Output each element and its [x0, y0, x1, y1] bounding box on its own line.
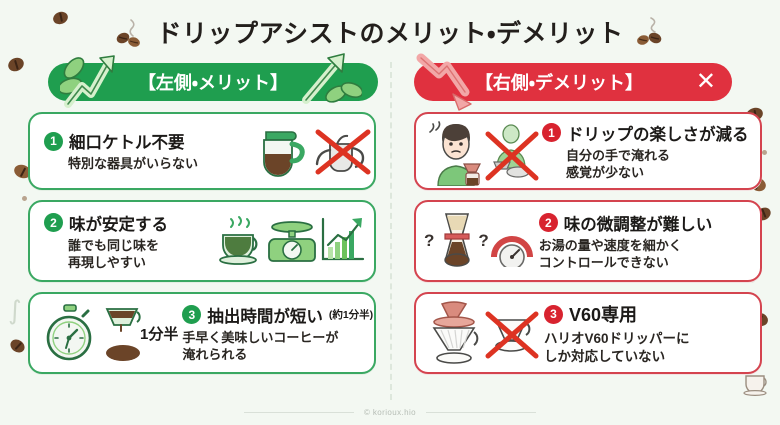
footer-rule-right — [426, 412, 536, 413]
merit-card[interactable]: 1分半 3 抽出時間が短い (約1分半) 手早く美味しいコーヒーが 淹れられる — [28, 292, 376, 374]
footer-credit: © korioux.hio — [364, 408, 416, 417]
page-title: ドリップアシストのメリット・デメリット — [0, 12, 780, 52]
page-title-text: ドリップアシストのメリット・デメリット — [156, 14, 623, 50]
coffee-bean-decoration — [6, 55, 26, 74]
up-arrow-leaf-icon — [300, 50, 362, 108]
demerit-subtext: お湯の量や速度を細かく コントロールできない — [539, 238, 745, 271]
demerit-card[interactable]: ? ? 2 味の微調整が難しい お湯の量や速度を細かく コントロールできない — [414, 200, 762, 282]
close-icon: ✕ — [696, 70, 716, 94]
v60-dripper-icon — [424, 298, 486, 368]
demerits-column: 1 ドリップの楽しさが減る 自分の手で淹れる 感覚が少ない ? ? — [414, 112, 762, 384]
merit-headline: 1 細口ケトル不要 — [44, 129, 250, 153]
item-number-badge: 2 — [44, 213, 63, 232]
gauge-icon — [489, 227, 535, 267]
coffee-bean-decoration — [8, 337, 27, 355]
item-number-badge: 3 — [544, 305, 563, 324]
demerit-card[interactable]: 1 ドリップの楽しさが減る 自分の手で淹れる 感覚が少ない — [414, 112, 762, 190]
merits-column: 1 細口ケトル不要 特別な器具がいらない — [28, 112, 376, 384]
item-number-badge: 2 — [539, 213, 558, 232]
coffee-bean-steam-icon — [116, 16, 146, 48]
down-arrow-icon — [415, 52, 487, 112]
merit-subtext: 特別な器具がいらない — [68, 156, 250, 173]
merit-headline-text: 細口ケトル不要 — [69, 129, 185, 153]
up-arrow-leaf-icon — [60, 52, 122, 110]
gooseneck-kettle-crossed-icon — [312, 122, 374, 180]
demerit-subtext: ハリオV60ドリッパーに しか対応していない — [544, 330, 756, 365]
merit-headline-note: (約1分半) — [329, 307, 373, 322]
other-dripper-crossed-icon — [484, 300, 540, 366]
footer-rule-left — [244, 412, 354, 413]
footer: © korioux.hio — [0, 408, 780, 417]
banner-demerit-label: 【右側・デメリット】 — [475, 69, 643, 95]
stopwatch-icon — [42, 302, 98, 364]
coffee-bean-steam-icon — [634, 16, 664, 48]
merit-headline: 2 味が安定する — [44, 211, 214, 235]
chemex-question-icon — [434, 208, 480, 274]
steam-swirl-decoration: ∫ — [8, 298, 22, 324]
merit-headline: 3 抽出時間が短い (約1分半) — [182, 303, 374, 327]
merit-subtext: 手早く美味しいコーヒーが 淹れられる — [182, 330, 374, 363]
merit-headline-text: 抽出時間が短い — [207, 303, 323, 327]
demerit-subtext: 自分の手で淹れる 感覚が少ない — [566, 148, 758, 181]
column-divider — [390, 62, 392, 400]
merit-card[interactable]: 1 細口ケトル不要 特別な器具がいらない — [28, 112, 376, 190]
hand-drip-crossed-icon — [484, 118, 540, 184]
demerit-headline: 2 味の微調整が難しい — [539, 211, 745, 235]
demerit-headline-text: ドリップの楽しさが減る — [567, 121, 749, 145]
merit-headline-text: 味が安定する — [69, 211, 168, 235]
item-number-badge: 1 — [44, 132, 63, 151]
coffee-cup-steam-icon — [214, 213, 266, 269]
item-number-badge: 1 — [542, 123, 561, 142]
brew-time-stamp: 1分半 — [140, 323, 178, 344]
banner-merit-label: 【左側・メリット】 — [138, 69, 288, 95]
growth-chart-icon — [318, 213, 366, 269]
coffee-pool-icon — [100, 343, 146, 363]
demerit-card[interactable]: 3 V60専用 ハリオV60ドリッパーに しか対応していない — [414, 292, 762, 374]
merit-subtext: 誰でも同じ味を 再現しやすい — [68, 238, 214, 271]
demerit-headline-text: 味の微調整が難しい — [564, 211, 713, 235]
question-mark-icon: ? — [424, 231, 434, 251]
item-number-badge: 3 — [182, 305, 201, 324]
demerit-headline: 3 V60専用 — [544, 301, 756, 327]
coffee-server-icon — [250, 122, 310, 180]
demerit-headline: 1 ドリップの楽しさが減る — [542, 121, 758, 145]
merit-card[interactable]: 2 味が安定する 誰でも同じ味を 再現しやすい — [28, 200, 376, 282]
demerit-headline-text: V60専用 — [569, 301, 637, 327]
dot-decoration — [762, 150, 767, 155]
question-mark-icon: ? — [478, 231, 488, 251]
dot-decoration — [22, 196, 27, 201]
sad-person-icon — [422, 116, 488, 186]
kitchen-scale-icon — [267, 213, 317, 269]
